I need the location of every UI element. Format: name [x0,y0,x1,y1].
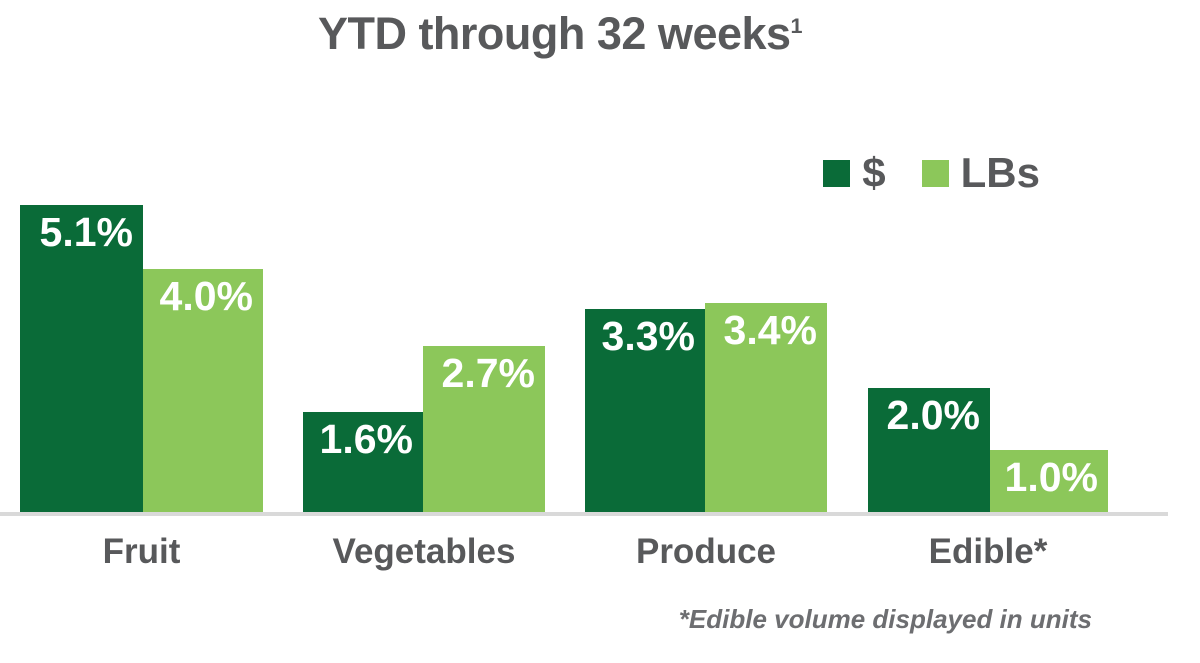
bar-produce-pounds[interactable]: 3.4% [705,303,827,512]
category-label-produce: Produce [585,532,827,572]
bar-fruit-dollars[interactable]: 5.1% [20,205,143,512]
bar-edible-pounds[interactable]: 1.0% [990,450,1108,512]
x-axis-line [0,512,1168,516]
bar-value-label: 5.1% [40,211,133,254]
bar-value-label: 1.6% [320,418,413,461]
bar-value-label: 4.0% [160,275,253,318]
bar-edible-dollars[interactable]: 2.0% [868,388,990,512]
bar-value-label: 3.3% [602,315,695,358]
bar-vegetables-dollars[interactable]: 1.6% [303,412,423,512]
chart-footnote: *Edible volume displayed in units [679,604,1092,635]
chart-slide: YTD through 32 weeks1 $LBs 5.1%4.0%1.6%2… [0,0,1200,663]
plot-area: 5.1%4.0%1.6%2.7%3.3%3.4%2.0%1.0% FruitVe… [0,0,1200,663]
bar-fruit-pounds[interactable]: 4.0% [143,269,263,512]
bar-value-label: 2.7% [442,352,535,395]
category-label-vegetables: Vegetables [303,532,545,572]
category-label-edible: Edible* [868,532,1108,572]
bar-value-label: 2.0% [887,394,980,437]
bar-value-label: 1.0% [1005,456,1098,499]
bar-produce-dollars[interactable]: 3.3% [585,309,705,512]
bar-value-label: 3.4% [724,309,817,352]
bar-vegetables-pounds[interactable]: 2.7% [423,346,545,512]
category-label-fruit: Fruit [20,532,263,572]
